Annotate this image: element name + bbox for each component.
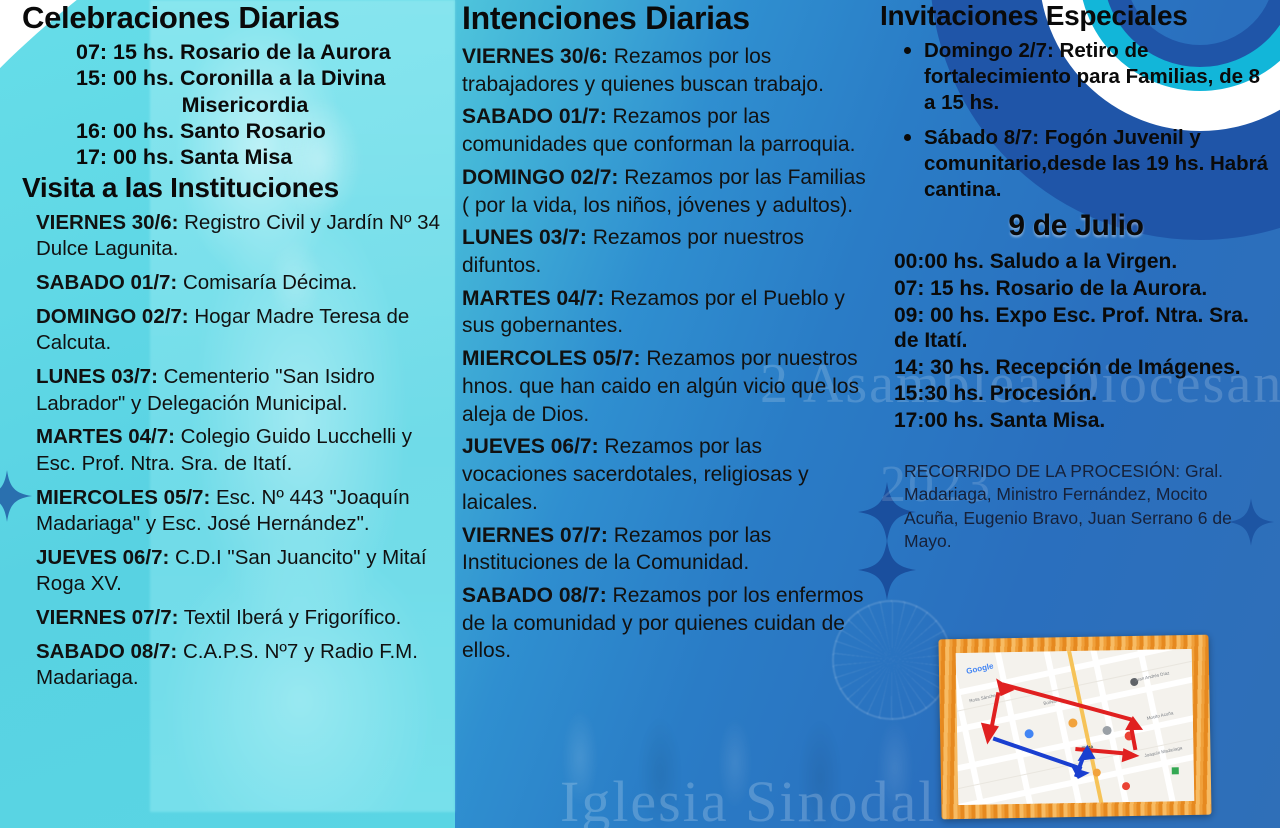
section-title-invitaciones: Invitaciones Especiales — [880, 0, 1272, 32]
entry-text: Textil Iberá y Frigorífico. — [178, 606, 401, 629]
intenciones-list: VIERNES 30/6: Rezamos por los trabajador… — [462, 43, 866, 665]
entry-text: Comisaría Décima. — [177, 271, 357, 294]
nueve-julio-item: 07: 15 hs. Rosario de la Aurora. — [894, 276, 1272, 302]
entry-label: SABADO 08/7: — [36, 640, 177, 663]
visita-item: LUNES 03/7: Cementerio "San Isidro Labra… — [36, 364, 454, 417]
intencion-item: MARTES 04/7: Rezamos por el Pueblo y sus… — [462, 285, 866, 340]
intencion-item: VIERNES 30/6: Rezamos por los trabajador… — [462, 43, 866, 98]
entry-label: VIERNES 07/7: — [36, 606, 178, 629]
entry-label: SABADO 01/7: — [462, 105, 607, 128]
entry-label: SABADO 01/7: — [36, 271, 177, 294]
invitaciones-list: Domingo 2/7: Retiro de fortalecimiento p… — [902, 36, 1272, 203]
invitacion-item: Domingo 2/7: Retiro de fortalecimiento p… — [924, 36, 1272, 117]
visita-item: DOMINGO 02/7: Hogar Madre Teresa de Calc… — [36, 304, 454, 357]
visita-item: SABADO 08/7: C.A.P.S. Nº7 y Radio F.M. M… — [36, 639, 454, 692]
celebracion-item: Misericordia — [76, 93, 454, 118]
nueve-julio-item: 09: 00 hs. Expo Esc. Prof. Ntra. Sra. de… — [894, 303, 1272, 354]
entry-label: MIERCOLES 05/7: — [462, 347, 641, 370]
celebracion-item: 15: 00 hs. Coronilla a la Divina — [76, 66, 454, 91]
entry-label: MARTES 04/7: — [462, 287, 604, 310]
entry-label: MARTES 04/7: — [36, 425, 175, 448]
entry-label: JUEVES 06/7: — [36, 546, 169, 569]
visita-list: VIERNES 30/6: Registro Civil y Jardín Nº… — [36, 210, 454, 692]
visita-item: VIERNES 30/6: Registro Civil y Jardín Nº… — [36, 210, 454, 263]
celebracion-item: 16: 00 hs. Santo Rosario — [76, 119, 454, 144]
nueve-julio-item: 15:30 hs. Procesión. — [894, 381, 1272, 407]
column-intenciones: Intenciones Diarias VIERNES 30/6: Rezamo… — [462, 0, 866, 670]
column-celebraciones-visita: Celebraciones Diarias 07: 15 hs. Rosario… — [22, 0, 454, 699]
entry-label: VIERNES 30/6: — [36, 211, 178, 234]
entry-label: LUNES 03/7: — [36, 365, 158, 388]
section-title-visita: Visita a las Instituciones — [22, 172, 454, 204]
nueve-julio-item: 14: 30 hs. Recepción de Imágenes. — [894, 355, 1272, 381]
visita-item: VIERNES 07/7: Textil Iberá y Frigorífico… — [36, 605, 454, 632]
entry-label: DOMINGO 02/7: — [462, 166, 618, 189]
celebraciones-list: 07: 15 hs. Rosario de la Aurora15: 00 hs… — [36, 40, 454, 171]
nueve-julio-item: 17:00 hs. Santa Misa. — [894, 408, 1272, 434]
column-invitaciones-9julio: Invitaciones Especiales Domingo 2/7: Ret… — [880, 0, 1272, 553]
intencion-item: SABADO 01/7: Rezamos por las comunidades… — [462, 103, 866, 158]
entry-label: MIERCOLES 05/7: — [36, 486, 210, 509]
visita-item: MIERCOLES 05/7: Esc. Nº 443 "Joaquín Mad… — [36, 485, 454, 538]
entry-label: DOMINGO 02/7: — [36, 305, 189, 328]
nueve-julio-item: 00:00 hs. Saludo a la Virgen. — [894, 249, 1272, 275]
celebracion-item: 07: 15 hs. Rosario de la Aurora — [76, 40, 454, 65]
intencion-item: MIERCOLES 05/7: Rezamos por nuestros hno… — [462, 345, 866, 428]
nueve-de-julio-list: 00:00 hs. Saludo a la Virgen.07: 15 hs. … — [894, 249, 1272, 433]
section-title-9-de-julio: 9 de Julio — [880, 209, 1272, 243]
invitacion-item: Sábado 8/7: Fogón Juvenil y comunitario,… — [924, 123, 1272, 204]
celebracion-item: 17: 00 hs. Santa Misa — [76, 145, 454, 170]
intencion-item: VIERNES 07/7: Rezamos por las Institucio… — [462, 522, 866, 577]
map-image: Rosa Sánchez Bolívar Plaza Juan Andrés D… — [956, 649, 1195, 805]
entry-label: VIERNES 07/7: — [462, 524, 608, 547]
poster-flyer: 2 Asamblea Diocesana 2023 Iglesia Sinoda… — [0, 0, 1280, 828]
section-title-celebraciones: Celebraciones Diarias — [22, 0, 454, 36]
entry-label: JUEVES 06/7: — [462, 435, 599, 458]
visita-item: SABADO 01/7: Comisaría Décima. — [36, 270, 454, 297]
intencion-item: DOMINGO 02/7: Rezamos por las Familias (… — [462, 164, 866, 219]
procession-route-map[interactable]: Rosa Sánchez Bolívar Plaza Juan Andrés D… — [938, 635, 1211, 820]
intencion-item: JUEVES 06/7: Rezamos por las vocaciones … — [462, 433, 866, 516]
entry-label: SABADO 08/7: — [462, 584, 607, 607]
section-title-intenciones: Intenciones Diarias — [462, 0, 866, 37]
intencion-item: SABADO 08/7: Rezamos por los enfermos de… — [462, 582, 866, 665]
intencion-item: LUNES 03/7: Rezamos por nuestros difunto… — [462, 224, 866, 279]
entry-label: LUNES 03/7: — [462, 226, 587, 249]
visita-item: JUEVES 06/7: C.D.I "San Juancito" y Mita… — [36, 545, 454, 598]
entry-label: VIERNES 30/6: — [462, 45, 608, 68]
recorrido-procesion-text: RECORRIDO DE LA PROCESIÓN: Gral. Madaria… — [904, 460, 1254, 554]
visita-item: MARTES 04/7: Colegio Guido Lucchelli y E… — [36, 424, 454, 477]
